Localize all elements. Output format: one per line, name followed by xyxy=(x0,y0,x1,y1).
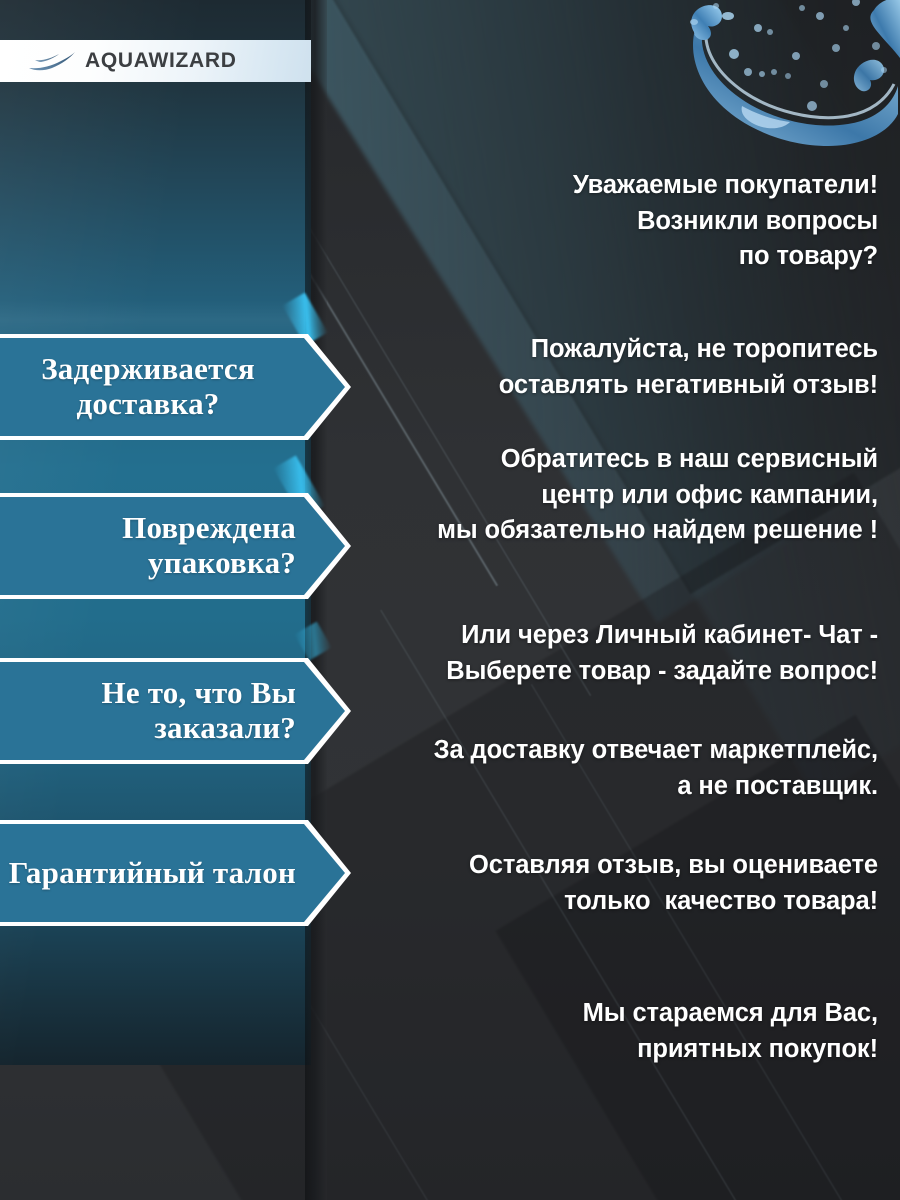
tab-label: Задерживается доставка? xyxy=(0,352,304,421)
tab-delivery-delayed[interactable]: Задерживается доставка? xyxy=(0,338,345,436)
brand-logo-bar: AQUAWIZARD xyxy=(0,40,311,82)
tab-warranty-card[interactable]: Гарантийный талон xyxy=(0,824,345,922)
tab-label: Не то, что Вы заказали? xyxy=(0,676,304,745)
message-paragraph: Или через Личный кабинет- Чат - Выберете… xyxy=(336,618,878,689)
tab-label: Повреждена упаковка? xyxy=(0,511,304,580)
brand-logo-text: AQUAWIZARD xyxy=(85,49,237,73)
panel-edge-bevel xyxy=(305,0,327,1200)
tab-damaged-packaging[interactable]: Повреждена упаковка? xyxy=(0,497,345,595)
message-paragraph: Уважаемые покупатели! Возникли вопросы п… xyxy=(336,168,878,275)
tab-label: Гарантийный талон xyxy=(0,856,304,891)
message-paragraph: Мы стараемся для Вас, приятных покупок! xyxy=(336,996,878,1067)
message-paragraph: Пожалуйста, не торопитесь оставлять нега… xyxy=(336,332,878,403)
message-paragraph: Оставляя отзыв, вы оцениваете только кач… xyxy=(336,848,878,919)
tab-wrong-item[interactable]: Не то, что Вы заказали? xyxy=(0,662,345,760)
message-paragraph: Обратитесь в наш сервисный центр или офи… xyxy=(336,442,878,549)
water-wave-icon xyxy=(28,49,76,73)
message-paragraph: За доставку отвечает маркетплейс, а не п… xyxy=(336,733,878,804)
message-column: Уважаемые покупатели! Возникли вопросы п… xyxy=(336,0,888,1200)
